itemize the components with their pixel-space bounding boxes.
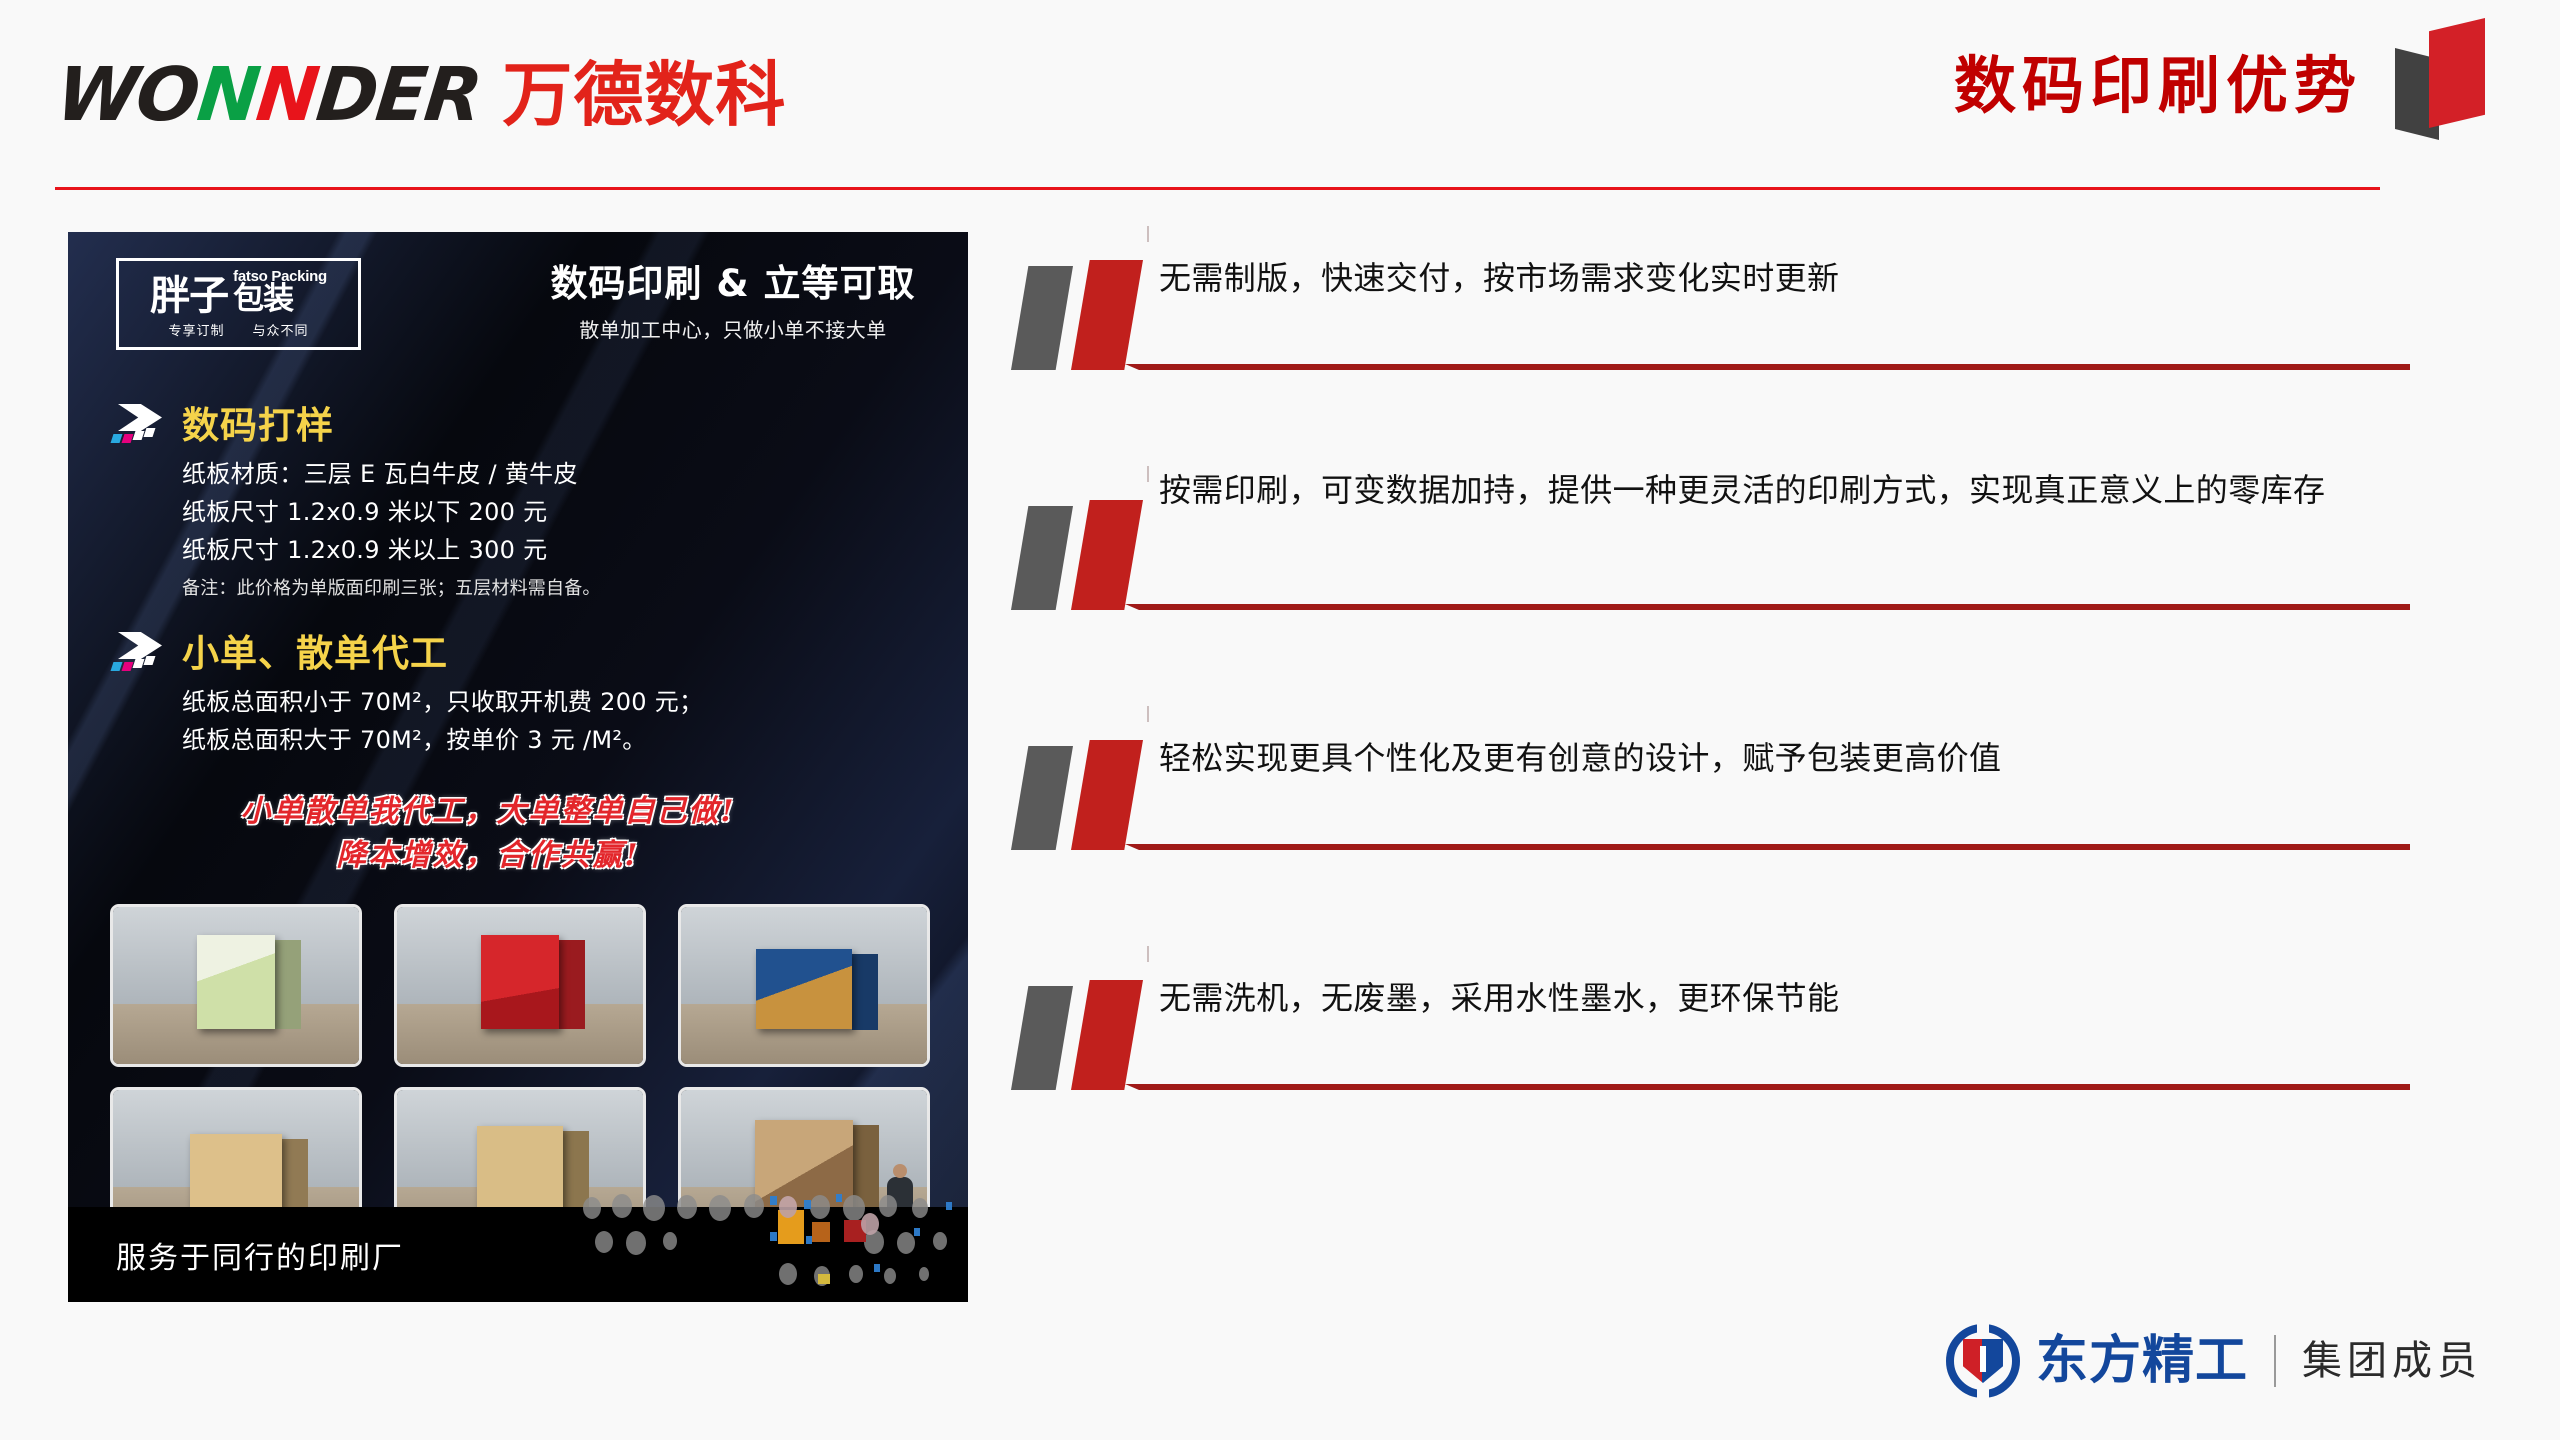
brand-logo: WONNDER 万德数科 <box>57 58 786 132</box>
poster-logo-cn-big: 胖子 <box>150 277 228 315</box>
bullet-chevron-marker-icon <box>1005 260 1165 372</box>
poster-section-small-order-oem: 小单、散单代工 纸板总面积小于 70M²，只收取开机费 200 元； 纸板总面积… <box>110 632 930 760</box>
header-divider-rule <box>55 187 2380 190</box>
page-header: WONNDER 万德数科 数码印刷优势 <box>0 0 2560 175</box>
poster-logo-tagline-right: 与众不同 <box>253 320 309 339</box>
cmyk-dot-magenta <box>122 662 134 671</box>
brand-chinese-name: 万德数科 <box>502 60 786 130</box>
page-title: 数码印刷优势 <box>1954 50 2362 121</box>
poster-headline: 数码印刷 & 立等可取 <box>523 264 943 305</box>
brand-wordmark-part-n-red: N <box>254 58 322 132</box>
poster-footer: 服务于同行的印刷厂 <box>68 1207 968 1302</box>
poster-logo-cn-small: 包装 <box>233 284 293 315</box>
logo-ring-gap-bottom <box>1977 1388 1989 1401</box>
bullet-underline <box>1125 1084 2410 1090</box>
bullet-underline <box>1125 604 2410 610</box>
poster-section-line: 纸板尺寸 1.2x0.9 米以下 200 元 <box>182 494 930 532</box>
poster-section-line: 纸板材质：三层 E 瓦白牛皮 / 黄牛皮 <box>182 456 930 494</box>
footer-divider <box>2274 1335 2276 1387</box>
bullet-underline <box>1125 364 2410 370</box>
product-box-beef-pie <box>756 949 852 1029</box>
poster-subheadline: 散单加工中心，只做小单不接大单 <box>523 314 943 343</box>
logo-ring-gap-top <box>1977 1321 1989 1334</box>
bullet-tick-mark <box>1147 466 1149 482</box>
brand-wordmark-part-1: WO <box>53 58 201 132</box>
poster-headline-block: 数码印刷 & 立等可取 散单加工中心，只做小单不接大单 <box>523 264 943 343</box>
brand-wordmark-part-n-green: N <box>194 58 262 132</box>
poster-logo-tagline-left: 专享订制 <box>168 320 224 339</box>
chevron-arrow-shape <box>118 632 162 659</box>
product-box-honey <box>197 935 275 1029</box>
poster-footer-text: 服务于同行的印刷厂 <box>116 1233 404 1277</box>
bullet-marker-red <box>1071 740 1143 850</box>
bullet-item-4: 无需洗机，无废墨，采用水性墨水，更环保节能 <box>1005 980 2465 1220</box>
bullet-marker-gray <box>1011 986 1073 1090</box>
bullet-text: 无需洗机，无废墨，采用水性墨水，更环保节能 <box>1159 974 2409 1023</box>
poster-header: 胖子 fatso Packing 包装 专享订制 与众不同 数码印刷 & 立等可… <box>68 232 968 362</box>
chevron-arrow-shape <box>118 404 162 431</box>
bullet-underline <box>1125 844 2410 850</box>
cmyk-dot-white-2 <box>144 656 156 665</box>
product-box-classic <box>477 1126 563 1212</box>
corner-mark-red-shape <box>2429 18 2485 128</box>
page-footer: 东方精工 集团成员 <box>1946 1324 2482 1398</box>
bullet-chevron-marker-icon <box>1005 740 1165 852</box>
bullet-tick-mark <box>1147 226 1149 242</box>
bullet-tick-mark <box>1147 946 1149 962</box>
bullet-chevron-marker-icon <box>1005 500 1165 612</box>
bullet-marker-gray <box>1011 266 1073 370</box>
bullet-chevron-marker-icon <box>1005 980 1165 1092</box>
bullet-marker-red <box>1071 260 1143 370</box>
poster-slogan-line-2: 降本增效，合作共赢! <box>128 834 848 878</box>
poster-brand-logo: 胖子 fatso Packing 包装 专享订制 与众不同 <box>116 258 361 350</box>
cmyk-dot-magenta <box>122 434 134 443</box>
bullet-tick-mark <box>1147 706 1149 722</box>
shield-circle-icon <box>1946 1324 2020 1398</box>
poster-section-title: 数码打样 <box>182 407 334 444</box>
bullet-item-2: 按需印刷，可变数据加持，提供一种更灵活的印刷方式，实现真正意义上的零库存 <box>1005 500 2465 740</box>
poster-section-line: 纸板总面积小于 70M²，只收取开机费 200 元； <box>182 684 930 722</box>
dongfang-jinggong-logo: 东方精工 <box>1946 1324 2248 1398</box>
advantage-bullet-list: 无需制版，快速交付，按市场需求变化实时更新 按需印刷，可变数据加持，提供一种更灵… <box>1005 260 2465 1220</box>
bullet-text: 轻松实现更具个性化及更有创意的设计，赋予包装更高价值 <box>1159 734 2409 783</box>
bullet-marker-gray <box>1011 746 1073 850</box>
poster-slogan-line-1: 小单散单我代工，大单整单自己做! <box>128 790 848 834</box>
poster-slogan: 小单散单我代工，大单整单自己做! 降本增效，合作共赢! <box>128 790 848 877</box>
bullet-marker-gray <box>1011 506 1073 610</box>
chevron-arrow-icon <box>110 632 168 674</box>
promo-poster-image: 胖子 fatso Packing 包装 专享订制 与众不同 数码印刷 & 立等可… <box>68 232 968 1302</box>
footer-company-name: 东方精工 <box>2036 1335 2248 1387</box>
cmyk-dot-white-1 <box>133 431 145 440</box>
bullet-marker-red <box>1071 500 1143 610</box>
cmyk-dot-white-2 <box>144 428 156 437</box>
product-photo <box>394 904 646 1067</box>
poster-section-digital-proofing: 数码打样 纸板材质：三层 E 瓦白牛皮 / 黄牛皮 纸板尺寸 1.2x0.9 米… <box>110 404 930 600</box>
halftone-dot-decoration <box>574 1188 968 1298</box>
chevron-arrow-icon <box>110 404 168 446</box>
poster-section-line: 纸板总面积大于 70M²，按单价 3 元 /M²。 <box>182 722 930 760</box>
brand-wordmark: WONNDER <box>57 58 480 132</box>
bullet-marker-red <box>1071 980 1143 1090</box>
product-photo <box>678 904 930 1067</box>
bullet-item-1: 无需制版，快速交付，按市场需求变化实时更新 <box>1005 260 2465 500</box>
poster-section-note: 备注：此价格为单版面印刷三张；五层材料需自备。 <box>182 574 930 600</box>
product-box-kraft <box>190 1134 282 1212</box>
product-box-red-gift <box>481 935 559 1029</box>
bullet-text: 按需印刷，可变数据加持，提供一种更灵活的印刷方式，实现真正意义上的零库存 <box>1159 466 2409 515</box>
poster-section-title: 小单、散单代工 <box>182 635 448 672</box>
product-photo <box>110 904 362 1067</box>
footer-tagline: 集团成员 <box>2302 1341 2482 1381</box>
poster-section-line: 纸板尺寸 1.2x0.9 米以上 300 元 <box>182 532 930 570</box>
bullet-text: 无需制版，快速交付，按市场需求变化实时更新 <box>1159 254 2409 303</box>
corner-parallelogram-icon <box>2385 0 2505 155</box>
bullet-item-3: 轻松实现更具个性化及更有创意的设计，赋予包装更高价值 <box>1005 740 2465 980</box>
brand-wordmark-part-3: DER <box>314 58 485 132</box>
cmyk-dot-white-1 <box>133 659 145 668</box>
